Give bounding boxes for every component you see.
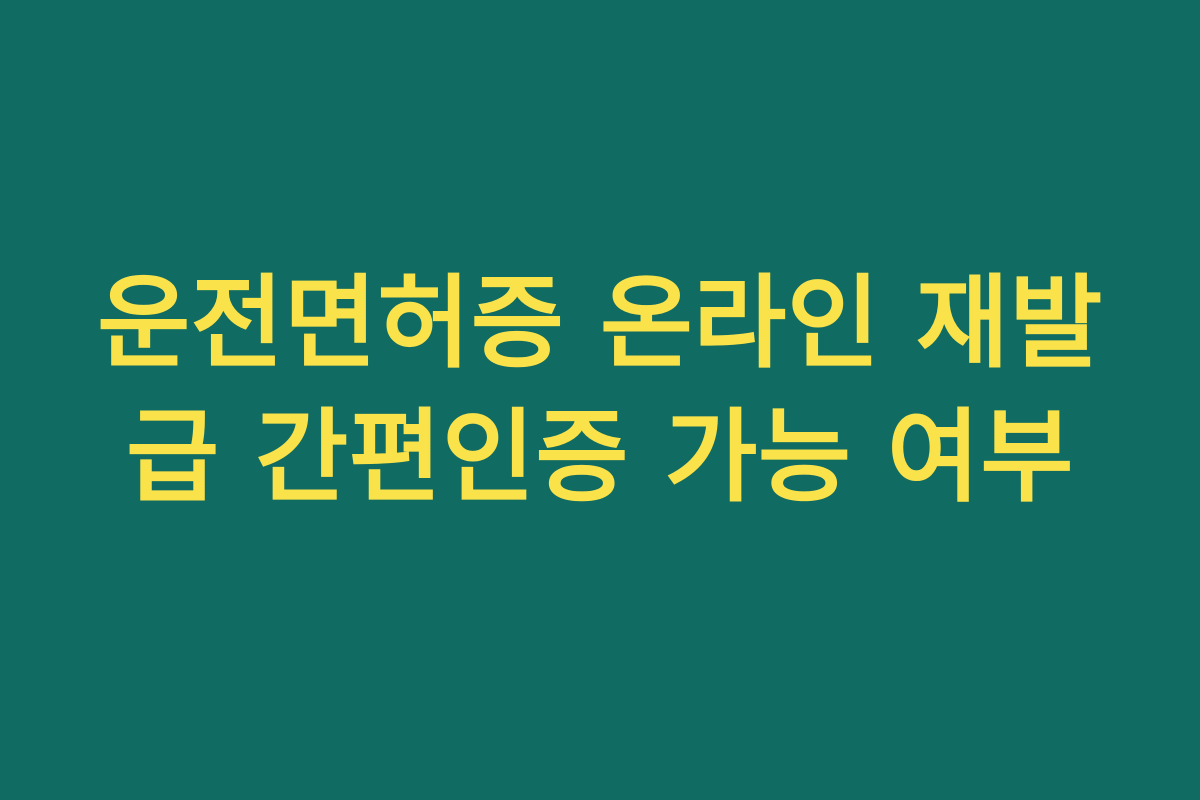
banner-canvas: 운전면허증 온라인 재발 급 간편인증 가능 여부 bbox=[0, 0, 1200, 800]
headline-line-2: 급 간편인증 가능 여부 bbox=[95, 390, 1105, 524]
headline-line-1: 운전면허증 온라인 재발 bbox=[95, 256, 1105, 390]
headline-text: 운전면허증 온라인 재발 급 간편인증 가능 여부 bbox=[95, 256, 1105, 524]
